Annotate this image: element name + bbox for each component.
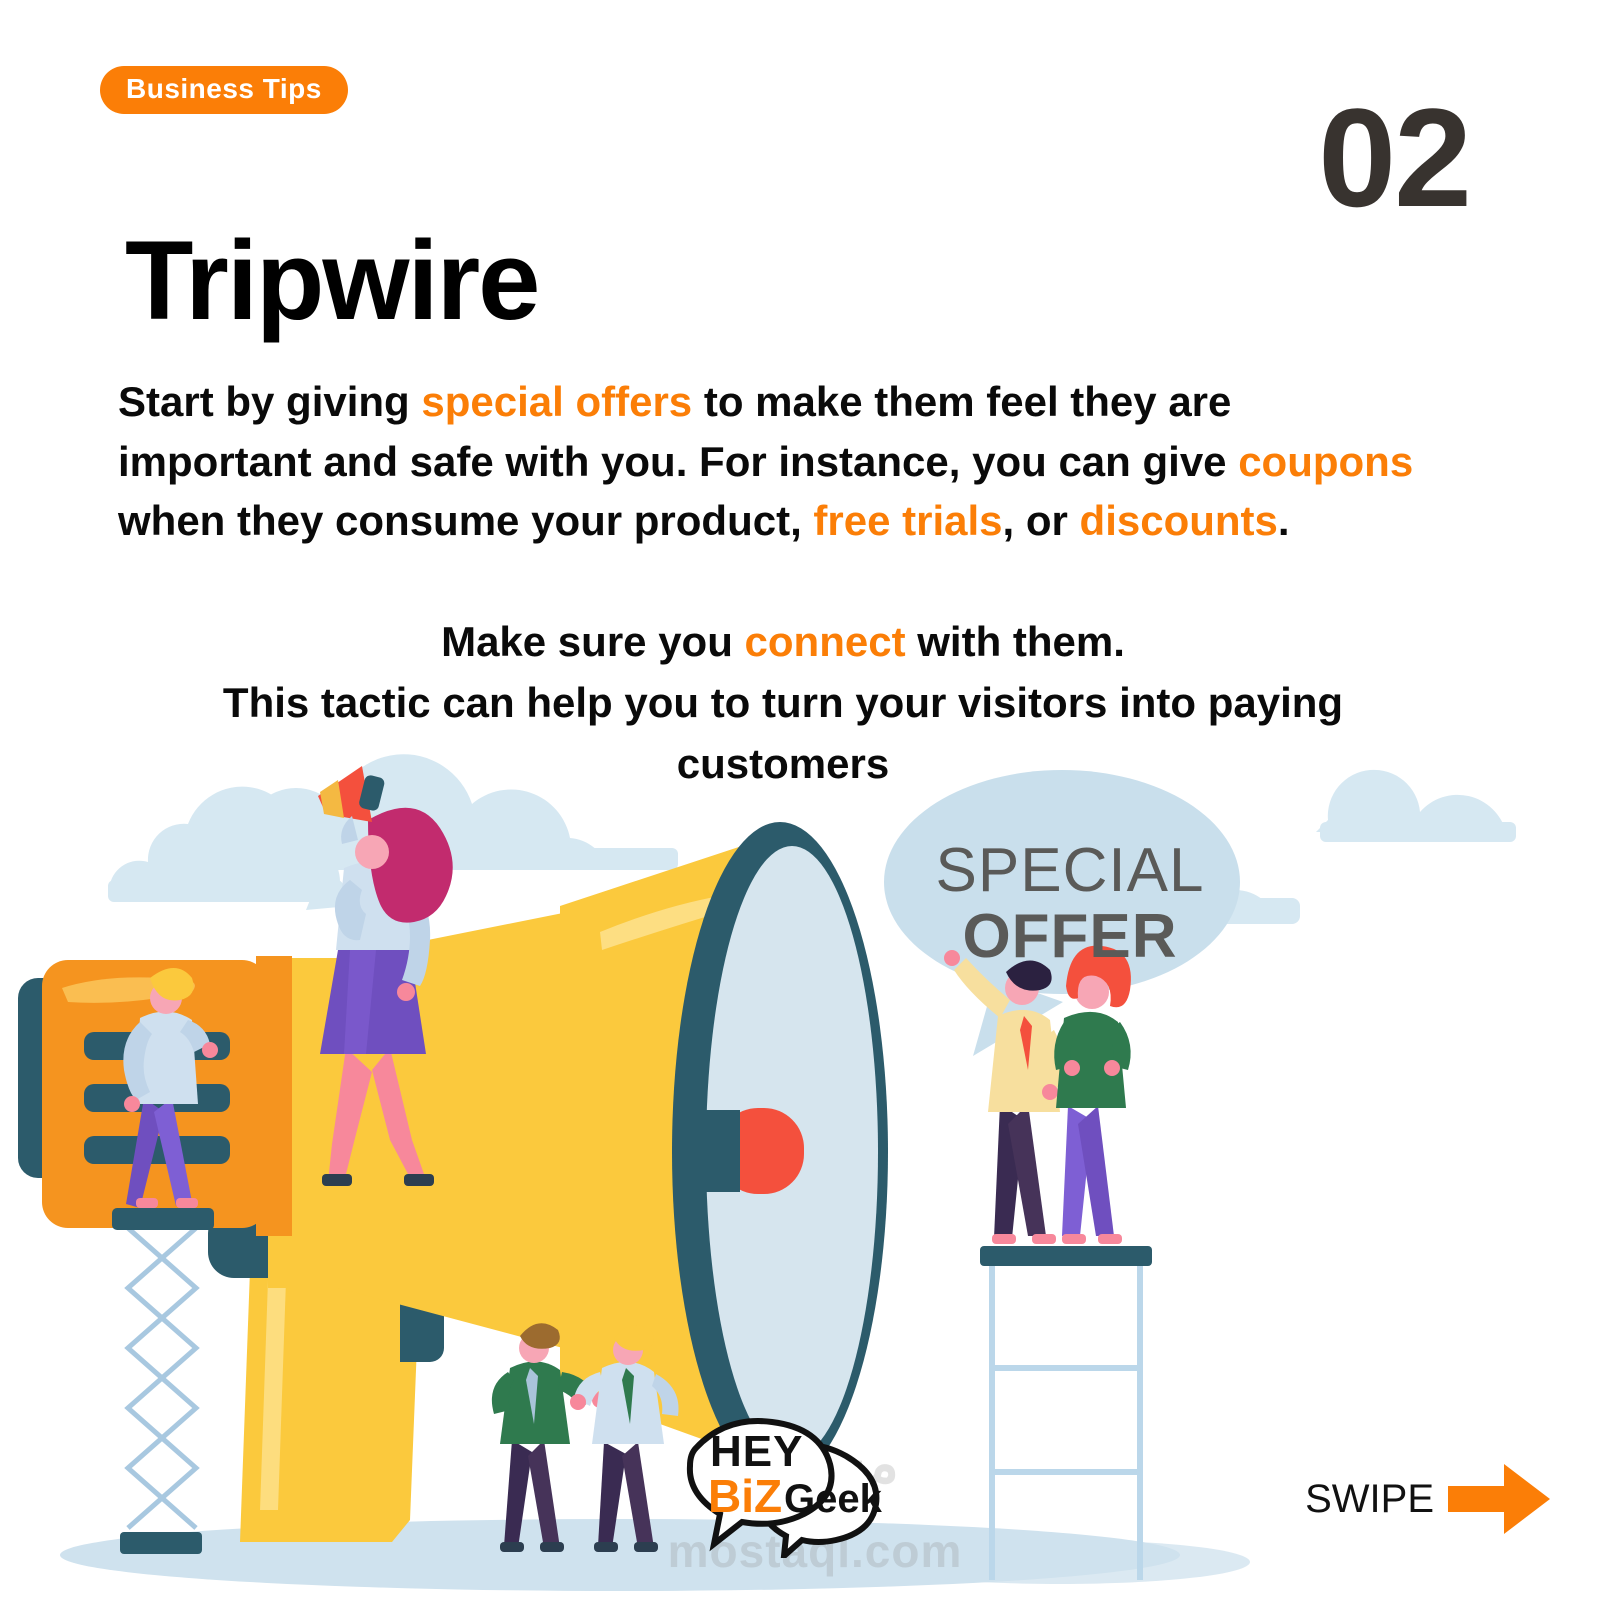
brand-logo: HEY BiZ Geek xyxy=(678,1408,888,1558)
speech-bubble-line-2: OFFER xyxy=(905,906,1235,968)
category-badge: Business Tips xyxy=(100,66,348,114)
logo-word-geek: Geek xyxy=(784,1477,883,1521)
arrow-right-icon[interactable] xyxy=(1448,1460,1552,1538)
text-run: Start by giving xyxy=(118,378,421,425)
ground-shadow-right xyxy=(870,1540,1250,1584)
slide-number: 02 xyxy=(1318,88,1470,228)
highlighted-term: discounts xyxy=(1080,497,1278,544)
figures-on-scaffold xyxy=(944,946,1152,1580)
highlighted-term: connect xyxy=(745,618,906,665)
logo-word-biz: BiZ xyxy=(708,1470,782,1522)
swipe-label: SWIPE xyxy=(1305,1477,1434,1522)
swipe-indicator[interactable]: SWIPE xyxy=(1305,1460,1552,1538)
text-run: Make sure you xyxy=(441,618,744,665)
speech-bubble-line-1: SPECIAL xyxy=(905,840,1235,902)
body-paragraph-primary: Start by giving special offers to make t… xyxy=(118,372,1418,551)
logo-word-hey: HEY xyxy=(710,1427,803,1476)
highlighted-term: special offers xyxy=(421,378,692,425)
speech-bubble-text: SPECIAL OFFER xyxy=(905,840,1235,968)
text-run: , or xyxy=(1003,497,1080,544)
text-run: with them. xyxy=(906,618,1125,665)
text-run: when they consume your product, xyxy=(118,497,813,544)
megaphone-red-tip xyxy=(700,1108,804,1194)
highlighted-term: free trials xyxy=(813,497,1002,544)
highlighted-term: coupons xyxy=(1238,438,1413,485)
cloud-far-right xyxy=(1316,770,1516,842)
page-title: Tripwire xyxy=(125,222,538,340)
text-run: . xyxy=(1278,497,1290,544)
slide-canvas: Business Tips 02 Tripwire Start by givin… xyxy=(0,0,1600,1600)
scissor-lift-arms xyxy=(128,1228,196,1528)
